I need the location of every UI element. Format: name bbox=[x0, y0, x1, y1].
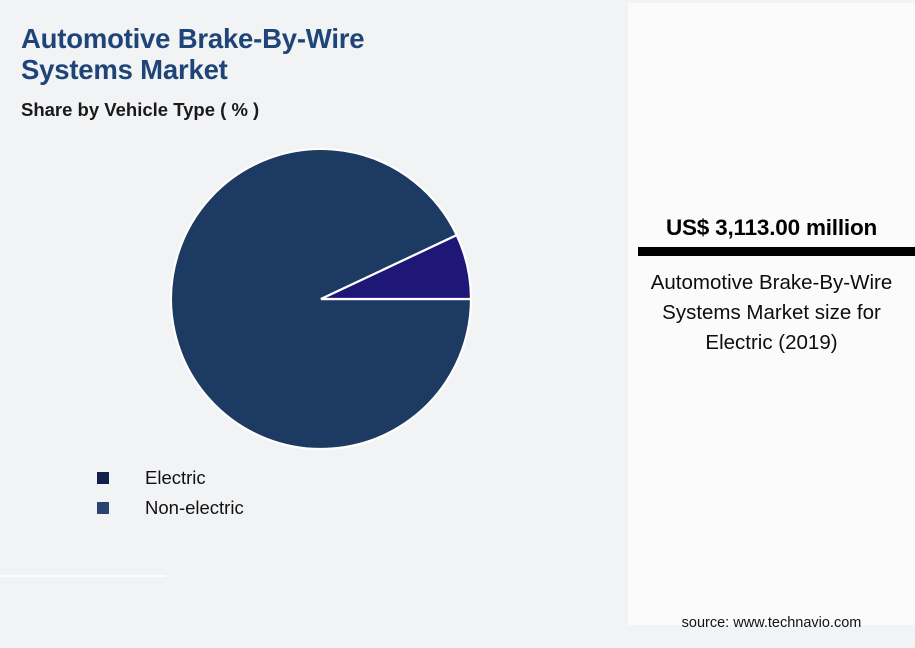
page-title: Automotive Brake-By-Wire Systems Market bbox=[21, 24, 461, 86]
kpi-panel: US$ 3,113.00 million Automotive Brake-By… bbox=[628, 3, 915, 625]
chart-left-panel: Automotive Brake-By-Wire Systems Market … bbox=[0, 0, 627, 648]
bottom-divider bbox=[0, 575, 166, 577]
legend-swatch-non-electric bbox=[97, 502, 109, 514]
chart-legend: Electric Non-electric bbox=[97, 463, 477, 523]
legend-swatch-electric bbox=[97, 472, 109, 484]
pie-chart bbox=[166, 144, 476, 454]
kpi-description: Automotive Brake-By-Wire Systems Market … bbox=[650, 268, 893, 358]
kpi-underline-bar bbox=[638, 247, 915, 256]
source-note: source: www.technavio.com bbox=[628, 615, 915, 631]
legend-label-electric: Electric bbox=[145, 467, 206, 489]
chart-subtitle: Share by Vehicle Type ( % ) bbox=[21, 99, 259, 121]
legend-label-non-electric: Non-electric bbox=[145, 497, 244, 519]
legend-item-electric[interactable]: Electric bbox=[97, 463, 477, 493]
legend-item-non-electric[interactable]: Non-electric bbox=[97, 493, 477, 523]
chart-canvas: Automotive Brake-By-Wire Systems Market … bbox=[0, 0, 915, 648]
kpi-value: US$ 3,113.00 million bbox=[628, 215, 915, 241]
